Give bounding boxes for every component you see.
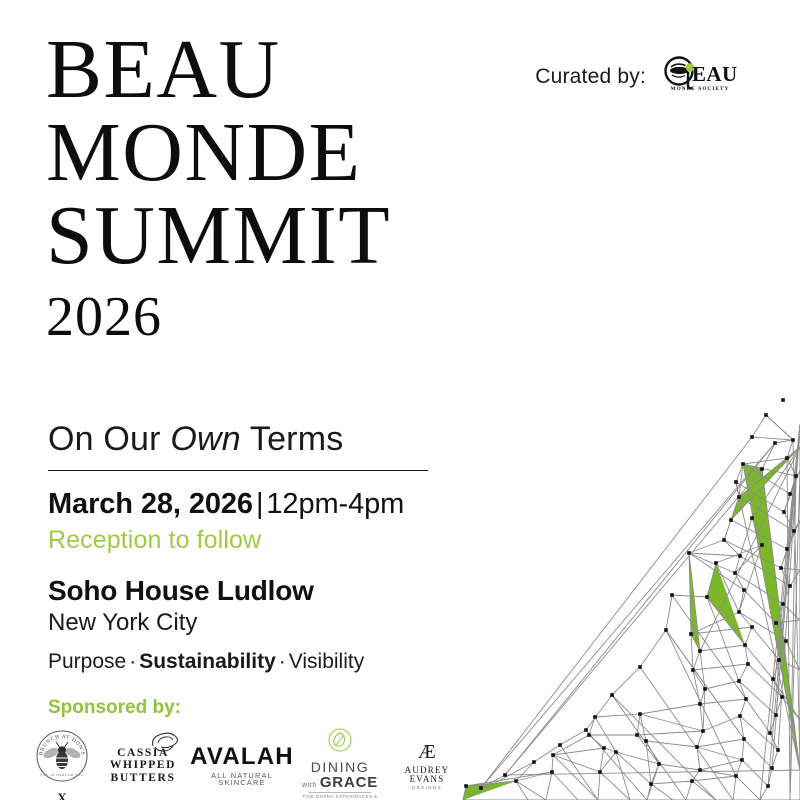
swirl-outline xyxy=(153,733,178,747)
curated-by-label: Curated by: xyxy=(535,65,646,89)
title-line-monde: MONDE xyxy=(46,111,516,194)
curated-by: Curated by: EAU MONDE SOCIETY xyxy=(535,52,738,101)
tagline-divider xyxy=(48,470,428,471)
event-pillars: Purpose·Sustainability·Visibility xyxy=(48,650,364,674)
event-datetime-block: March 28, 2026|12pm-4pm Reception to fol… xyxy=(48,488,404,555)
mesh-green-triangle-2 xyxy=(707,563,745,645)
bee-antennae xyxy=(56,742,68,747)
event-date: March 28, 2026 xyxy=(48,488,253,520)
grace-line-grace-row: with GRACE xyxy=(300,775,380,791)
cassia-logo-wrap: CASSIA WHIPPED BUTTERS xyxy=(102,747,184,786)
datetime-separator: | xyxy=(253,488,266,520)
grace-divider xyxy=(309,792,371,793)
grace-line-dining: DINING xyxy=(300,760,380,775)
ae-subtitle: DESIGNS xyxy=(386,786,468,791)
reception-note: Reception to follow xyxy=(48,526,404,555)
beau-monde-society-logo: EAU MONDE SOCIETY xyxy=(662,52,738,101)
title-line-beau: BEAU xyxy=(46,28,516,111)
mesh-green-triangle-4 xyxy=(731,447,800,520)
avalah-logo-wrap: AVALAH ALL NATURAL SKINCARE xyxy=(190,745,294,787)
leaf-plate-mark-icon xyxy=(325,727,355,753)
mesh-green-triangle-1 xyxy=(463,781,516,800)
event-time: 12pm-4pm xyxy=(266,488,404,520)
bee-circle-badge-icon: BRUNCH AT DON'S EST. IN HARLEM NYC xyxy=(28,728,96,790)
sponsor-logo-bee-badge: BRUNCH AT DON'S EST. IN HARLEM NYC X xyxy=(28,728,96,800)
sponsor-logo-audrey-evans: Æ AUDREY EVANS DESIGNS xyxy=(386,742,468,791)
mesh-edges xyxy=(463,415,800,800)
pillar-visibility: Visibility xyxy=(289,650,364,673)
sponsor-logo-cassia: CASSIA WHIPPED BUTTERS xyxy=(102,747,184,786)
logo-sub-text: MONDE SOCIETY xyxy=(671,86,730,92)
mesh-green-triangle-3 xyxy=(689,553,700,651)
pillar-purpose: Purpose xyxy=(48,650,126,673)
grace-tagline: FINE DINING EXPERIENCES & EVENTS xyxy=(300,795,380,800)
mesh-vertices xyxy=(464,398,798,790)
grace-line-grace: GRACE xyxy=(320,775,378,791)
cassia-line-2: WHIPPED xyxy=(102,759,184,772)
grace-leaf-vein xyxy=(336,736,343,745)
sponsor-logo-row: BRUNCH AT DON'S EST. IN HARLEM NYC X xyxy=(28,727,468,800)
bee-wing-right xyxy=(672,75,685,77)
mesh-green-triangle-6 xyxy=(743,464,800,770)
venue-city: New York City xyxy=(48,609,314,637)
grace-logo-wrap: DINING with GRACE FINE DINING EXPERIENCE… xyxy=(300,727,380,800)
event-datetime: March 28, 2026|12pm-4pm xyxy=(48,488,404,521)
audrey-evans-logo-wrap: Æ AUDREY EVANS DESIGNS xyxy=(386,742,468,791)
pillar-sustainability: Sustainability xyxy=(139,650,276,673)
swirl-inner xyxy=(158,736,173,742)
grace-with-word: with xyxy=(302,782,317,789)
tagline-block: On Our Own Terms xyxy=(48,420,433,471)
sponsor-logo-avalah: AVALAH ALL NATURAL SKINCARE xyxy=(190,745,294,787)
tagline-before: On Our xyxy=(48,420,170,458)
pillar-separator-2: · xyxy=(276,650,289,673)
tagline-after: Terms xyxy=(241,420,344,458)
sponsor-logo-dining-with-grace: DINING with GRACE FINE DINING EXPERIENCE… xyxy=(300,727,380,800)
ae-wordmark: AUDREY EVANS xyxy=(386,766,468,784)
venue-block: Soho House Ludlow New York City xyxy=(48,575,314,637)
grace-leaf xyxy=(334,733,345,746)
mesh-green-triangle-5 xyxy=(781,520,800,568)
butter-swirl-mark-icon xyxy=(147,730,181,754)
sponsored-by-label: Sponsored by: xyxy=(48,697,181,719)
logo-wordmark-text: EAU xyxy=(692,62,738,86)
event-poster: Curated by: EAU MONDE SOCIETY BEAU MONDE… xyxy=(0,0,800,800)
beau-monde-society-logo-mark: EAU MONDE SOCIETY xyxy=(662,52,738,96)
avalah-tagline: ALL NATURAL SKINCARE xyxy=(190,772,294,787)
avalah-wordmark: AVALAH xyxy=(190,745,294,769)
badge-bottom-text: EST. IN HARLEM NYC xyxy=(40,773,83,777)
poster-title: BEAU MONDE SUMMIT 2026 xyxy=(46,28,516,345)
venue-name: Soho House Ludlow xyxy=(48,575,314,607)
mesh-filled-triangles xyxy=(463,447,800,800)
tagline: On Our Own Terms xyxy=(48,420,433,459)
title-year: 2026 xyxy=(46,289,516,345)
ae-monogram: Æ xyxy=(386,742,468,762)
tagline-emphasis: Own xyxy=(170,420,241,458)
pillar-separator-1: · xyxy=(126,650,139,673)
sponsor-collab-x: X xyxy=(57,791,66,800)
bee-wing-left xyxy=(671,64,686,67)
title-line-summit: SUMMIT xyxy=(46,194,516,277)
cassia-line-3: BUTTERS xyxy=(102,772,184,785)
